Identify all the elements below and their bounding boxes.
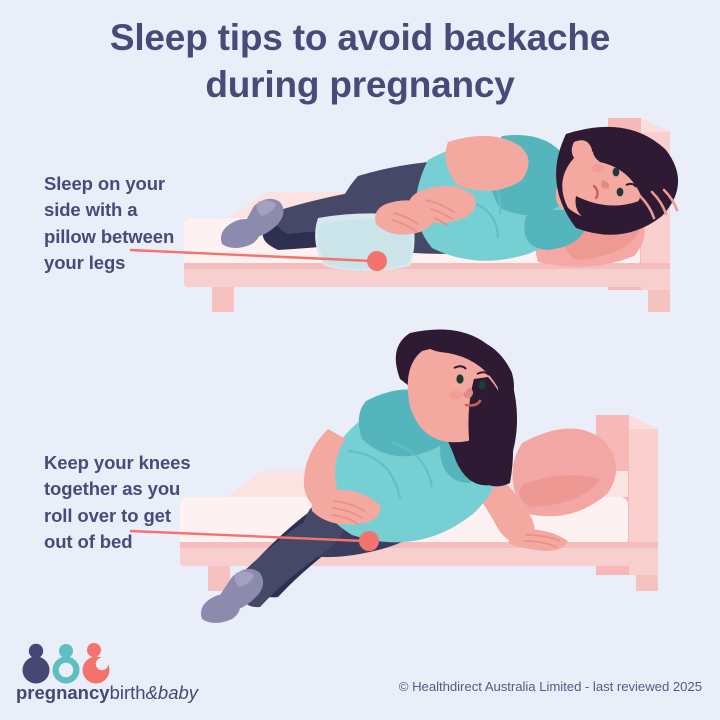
logo-word-and-baby: &baby: [146, 682, 200, 703]
leader-line-side-sleeping: [130, 243, 390, 279]
caption-2-line-1: Keep your knees: [44, 450, 191, 476]
pregnancy-birth-and-baby-logo: pregnancybirth&baby: [16, 637, 216, 703]
infographic-canvas: Sleep tips to avoid backache during preg…: [0, 0, 720, 720]
logo-figure-teal-head: [59, 644, 73, 658]
marker-dot-rolling-out-of-bed: [359, 531, 379, 551]
caption-1-line-1: Sleep on your: [44, 171, 174, 197]
caption-1-line-2: side with a: [44, 197, 174, 223]
logo-word-birth: birth: [110, 682, 146, 703]
caption-2-line-2: together as you: [44, 476, 191, 502]
logo-figure-navy-head: [29, 644, 43, 658]
title-line-1: Sleep tips to avoid backache: [0, 14, 720, 61]
illustration-rolling-out-of-bed: [170, 325, 720, 635]
page-title: Sleep tips to avoid backache during preg…: [0, 14, 720, 109]
leader-line-rolling-out-of-bed: [130, 523, 390, 559]
copyright-text: © Healthdirect Australia Limited - last …: [399, 679, 702, 694]
illustration-side-sleeping: [170, 100, 720, 315]
logo-word-pregnancy: pregnancybirth&baby: [16, 682, 200, 703]
marker-dot-side-sleeping: [367, 251, 387, 271]
logo-figure-navy-body: [23, 657, 50, 684]
logo-figure-coral-head: [87, 643, 101, 657]
